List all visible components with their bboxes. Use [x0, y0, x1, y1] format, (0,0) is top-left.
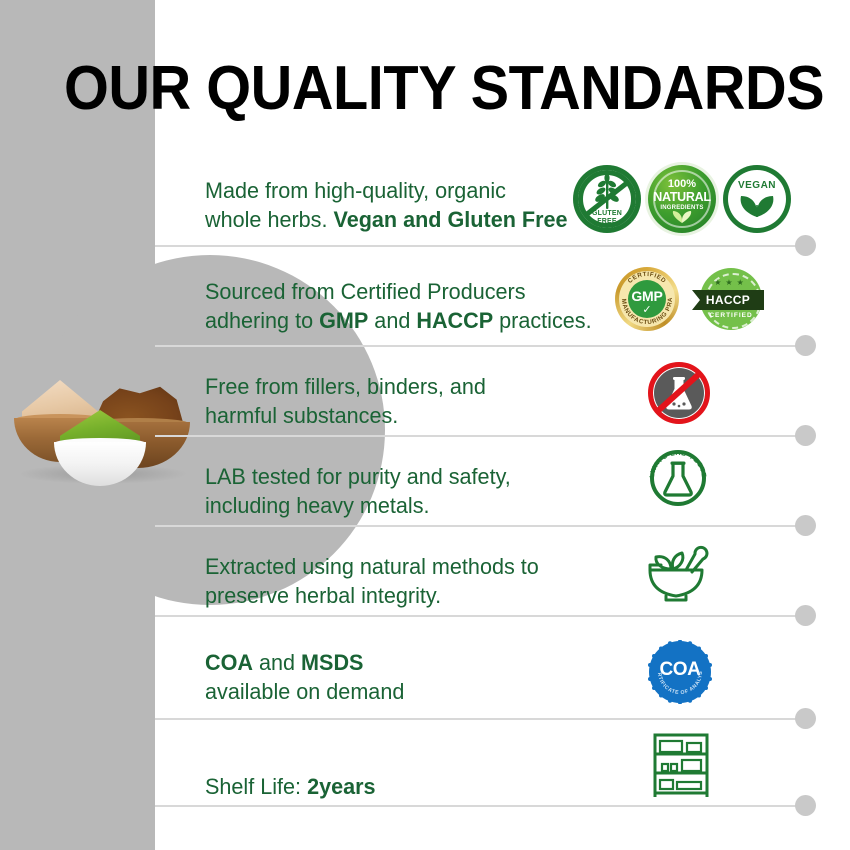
row-separator-3: [155, 435, 805, 437]
flask-icon: [646, 446, 710, 510]
panel-mask-bottom: [155, 605, 215, 850]
row-separator-dot-4: [795, 515, 816, 536]
shelf-rack-svg: [652, 732, 710, 798]
row-separator-5: [155, 615, 805, 617]
svg-text:CERTIFICATE OF ANALYSIS: CERTIFICATE OF ANALYSIS: [648, 640, 704, 696]
row-separator-dot-5: [795, 605, 816, 626]
two-leaves-icon: [723, 165, 791, 233]
row5-line2: preserve herbal integrity.: [205, 583, 441, 608]
row-separator-4: [155, 525, 805, 527]
row1-line1: Made from high-quality, organic: [205, 178, 506, 203]
coa-badge: COA CERTIFICATE OF ANALYSIS: [648, 640, 712, 704]
row5-line1: Extracted using natural methods to: [205, 554, 539, 579]
row2-p0: adhering to: [205, 308, 319, 333]
mortar-pestle-svg: [640, 540, 712, 606]
row-separator-dot-2: [795, 335, 816, 356]
row3-line1: Free from fillers, binders, and: [205, 374, 486, 399]
row-separator-dot-6: [795, 708, 816, 729]
leaf-icon: [648, 165, 716, 233]
always-lab-tested-icon: ALWAYS LAB TESTED: [646, 446, 710, 510]
row6-line2: available on demand: [205, 679, 404, 704]
row1-line2-normal: whole herbs.: [205, 207, 333, 232]
row2-line1: Sourced from Certified Producers: [205, 279, 526, 304]
gf-line1: GLUTEN: [592, 210, 622, 217]
row4-line2: including heavy metals.: [205, 493, 430, 518]
haccp-ribbon-text: HACCP: [692, 290, 764, 310]
row6-msds: MSDS: [301, 650, 363, 675]
row2-p2: and: [368, 308, 416, 333]
checkmark-icon: ✓: [615, 303, 679, 316]
row2-p4: practices.: [493, 308, 591, 333]
shelf-rack-icon: [652, 732, 710, 798]
100-natural-badge: 100% NATURAL INGREDIENTS: [648, 165, 716, 233]
coa-arc-text: CERTIFICATE OF ANALYSIS: [648, 640, 712, 704]
gf-line2: FREE: [597, 218, 616, 225]
row2-p3: HACCP: [416, 308, 493, 333]
row-separator-2: [155, 345, 805, 347]
haccp-certified-badge: ★★★ HACCP CERTIFIED: [692, 268, 764, 334]
gmp-certified-badge: CERTIFIED GOOD MANUFACTURING PRACTICE GM…: [615, 267, 679, 331]
gmp-center-text: GMP: [615, 288, 679, 304]
white-bowl: [54, 410, 146, 486]
row-separator-dot-1: [795, 235, 816, 256]
row3-line2: harmful substances.: [205, 403, 398, 428]
infographic-page: OUR QUALITY STANDARDS Made from high-qua…: [0, 0, 850, 850]
vegan-badge: VEGAN: [723, 165, 791, 233]
stars-icon: ★★★: [700, 278, 762, 287]
gluten-free-label: GLUTEN FREE: [573, 210, 641, 225]
svg-text:CERTIFIED: CERTIFIED: [627, 271, 668, 285]
row6-coa: COA: [205, 650, 253, 675]
product-bowls-image: [8, 368, 198, 488]
row-separator-1: [155, 245, 805, 247]
gluten-free-badge: GLUTEN FREE: [573, 165, 641, 233]
row-separator-dot-7: [795, 795, 816, 816]
row-separator-6: [155, 718, 805, 720]
row7-label: Shelf Life:: [205, 774, 307, 799]
haccp-certified-text: CERTIFIED: [700, 312, 762, 319]
row4-line1: LAB tested for purity and safety,: [205, 464, 511, 489]
row-separator-dot-3: [795, 425, 816, 446]
row7-value: 2years: [307, 774, 375, 799]
row-separator-7: [155, 805, 805, 807]
row6-and: and: [253, 650, 301, 675]
page-title: OUR QUALITY STANDARDS: [64, 56, 824, 122]
no-chemicals-icon: [648, 362, 710, 424]
bowl-cup: [54, 442, 146, 486]
row1-line2-bold: Vegan and Gluten Free: [333, 207, 567, 232]
mortar-and-pestle-icon: [640, 540, 712, 606]
row2-p1: GMP: [319, 308, 368, 333]
